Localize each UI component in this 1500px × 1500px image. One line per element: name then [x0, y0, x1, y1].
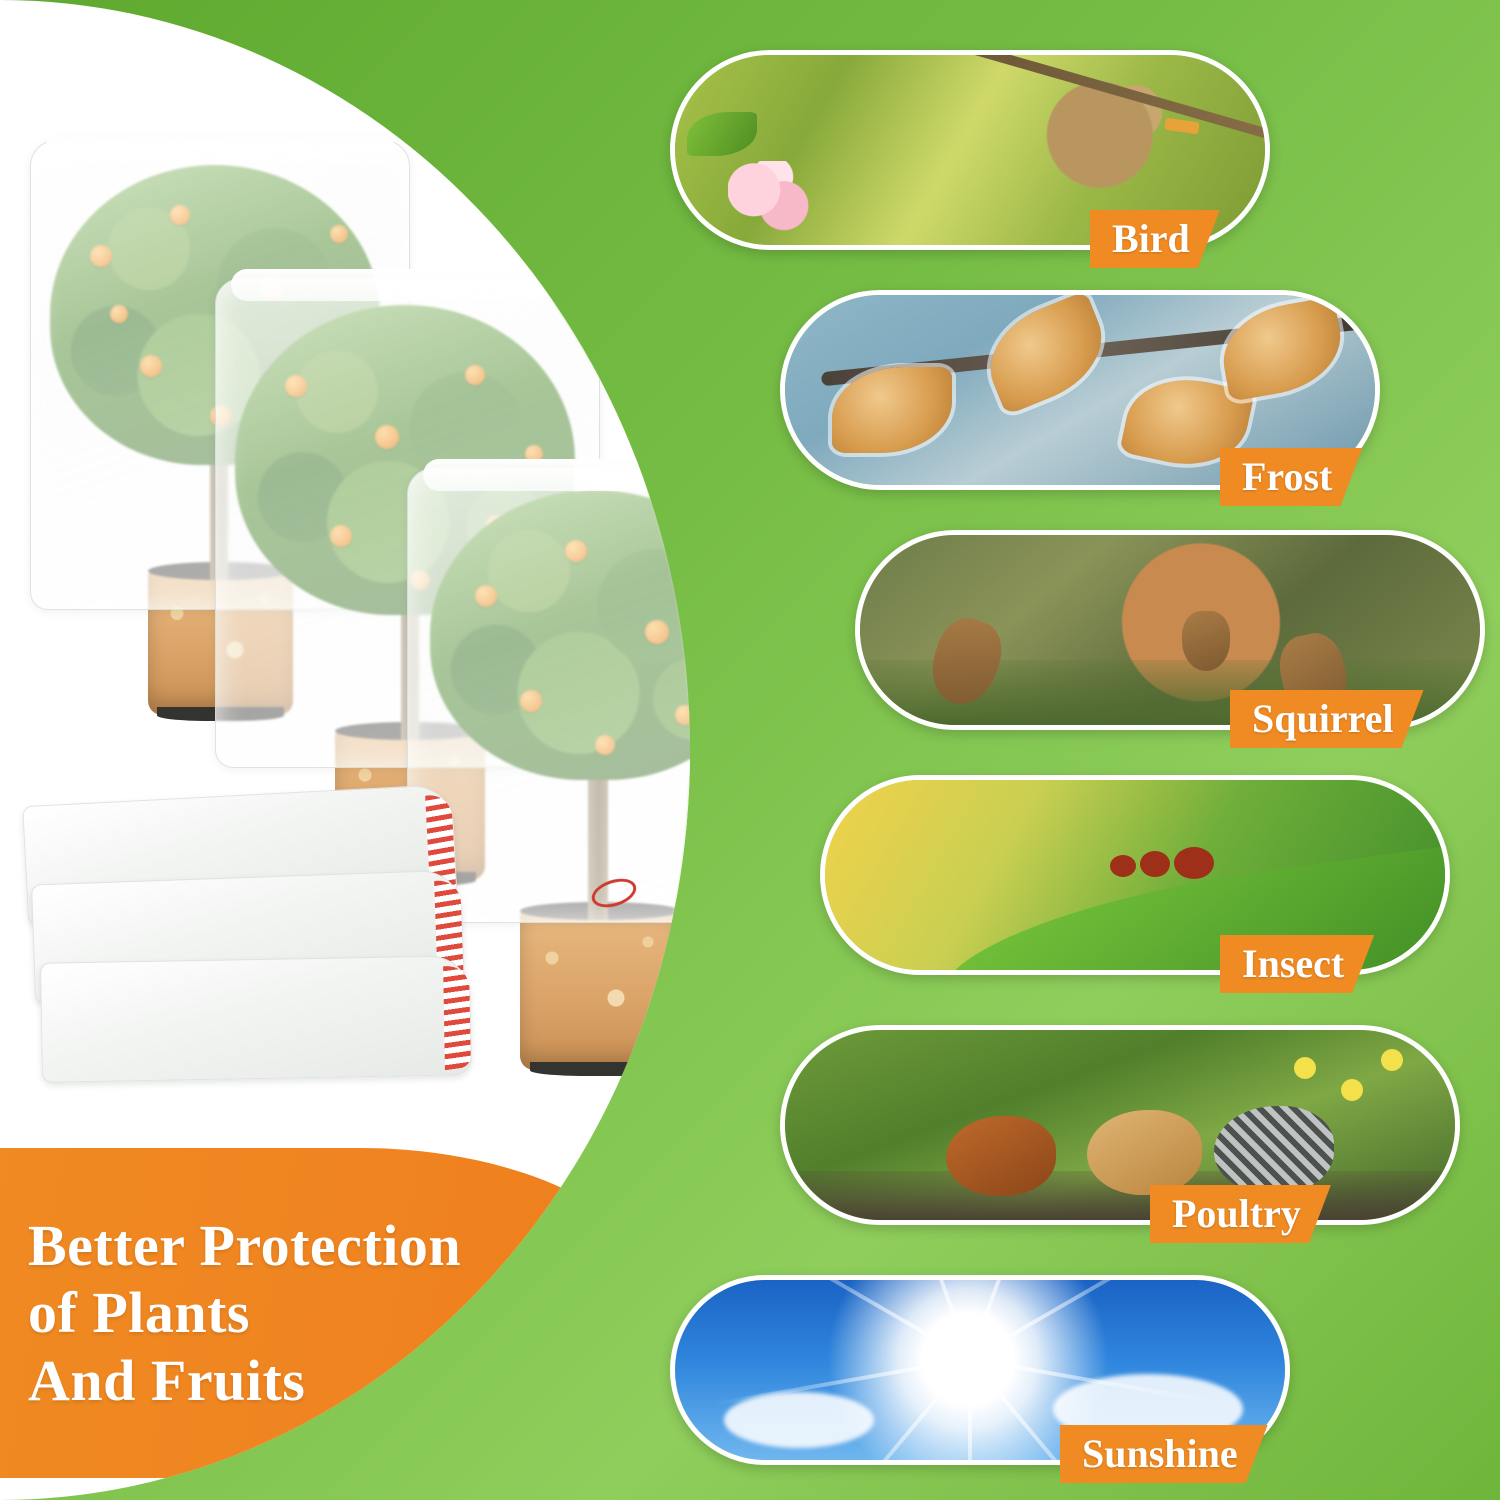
feature-item-insect: Insect	[820, 775, 1450, 975]
headline-text: Better Protection of Plants And Fruits	[0, 1212, 461, 1414]
feature-item-frost: Frost	[780, 290, 1380, 490]
feature-label-bird: Bird	[1090, 210, 1220, 268]
feature-label-squirrel: Squirrel	[1230, 690, 1424, 748]
feature-item-sunshine: Sunshine	[670, 1275, 1290, 1465]
ant-illustration	[1110, 837, 1230, 897]
feature-label-text: Squirrel	[1252, 699, 1394, 739]
product-infographic-poster: Better Protection of Plants And Fruits B…	[0, 0, 1500, 1500]
feature-label-text: Bird	[1112, 219, 1190, 259]
feature-label-insect: Insect	[1220, 935, 1374, 993]
feature-label-sunshine: Sunshine	[1060, 1425, 1268, 1483]
feature-label-poultry: Poultry	[1150, 1185, 1331, 1243]
headline-ribbon: Better Protection of Plants And Fruits	[0, 1148, 670, 1478]
feature-label-text: Frost	[1242, 457, 1332, 497]
plant-pot-3	[520, 910, 680, 1070]
poultry-photo	[780, 1025, 1460, 1225]
feature-label-text: Poultry	[1172, 1194, 1301, 1234]
protection-feature-list: Bird Frost	[660, 0, 1500, 1500]
feature-label-text: Sunshine	[1082, 1434, 1238, 1474]
feature-label-text: Insect	[1242, 944, 1344, 984]
feature-label-frost: Frost	[1220, 448, 1362, 506]
feature-item-squirrel: Squirrel	[855, 530, 1485, 730]
product-showcase-panel: Better Protection of Plants And Fruits	[0, 0, 690, 1500]
feature-item-poultry: Poultry	[780, 1025, 1460, 1225]
folded-cover-fabric-stack	[25, 795, 485, 1125]
feature-item-bird: Bird	[670, 50, 1270, 250]
